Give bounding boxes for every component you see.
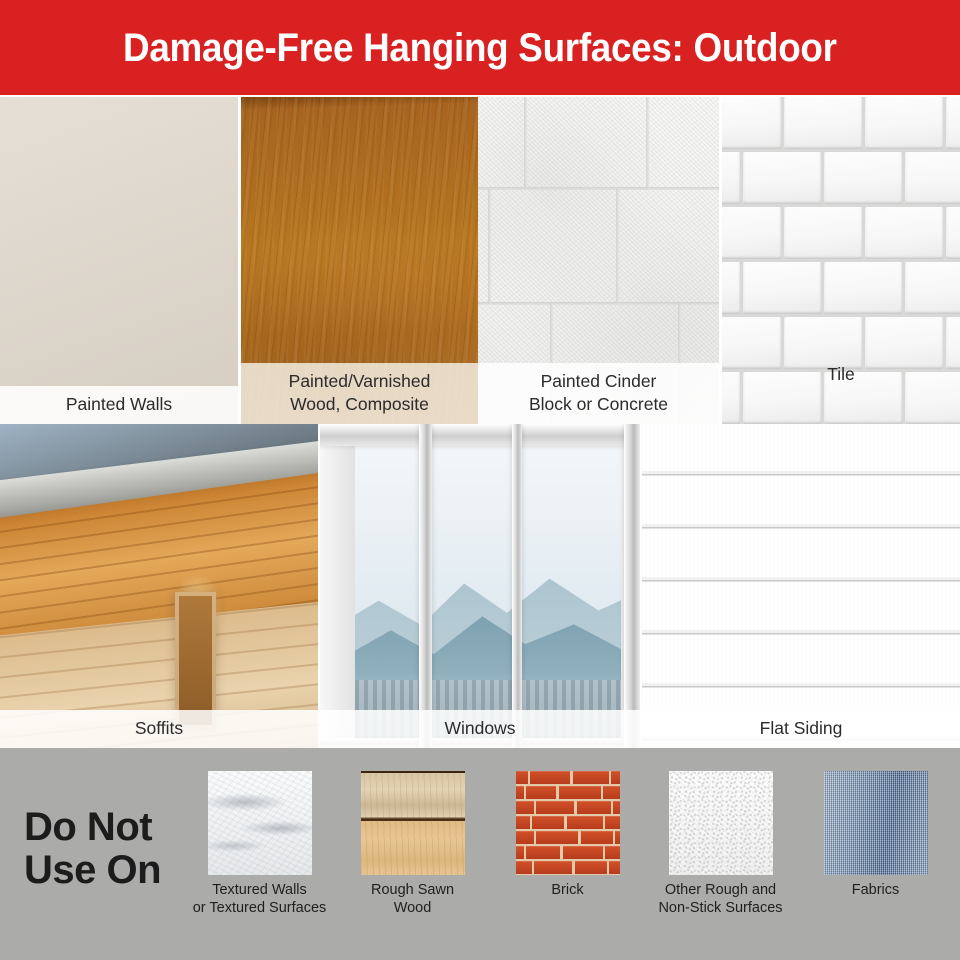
surface-tile-varnished-wood[interactable]: Painted/Varnished Wood, Composite [241, 97, 478, 424]
do-not-use-item-brick[interactable]: Brick [495, 771, 640, 899]
surface-label-soffits: Soffits [0, 710, 318, 748]
do-not-use-caption-textured-walls: Textured Walls or Textured Surfaces [187, 881, 332, 917]
soffit-photo-icon [0, 424, 318, 748]
do-not-use-item-rough-nonstick[interactable]: Other Rough and Non-Stick Surfaces [648, 771, 793, 917]
surface-tile-tile[interactable]: Tile [722, 97, 960, 424]
do-not-use-section: Do Not Use On Textured Walls or Textured… [0, 748, 960, 960]
surface-label-line1: Painted Cinder [480, 370, 717, 392]
surface-label-line2: Block or Concrete [480, 393, 717, 415]
flat-siding-photo-icon [642, 424, 960, 748]
infographic-root: Damage-Free Hanging Surfaces: Outdoor Pa… [0, 0, 960, 960]
surface-label-cinder-block: Painted Cinder Block or Concrete [478, 363, 719, 424]
caption-line1: Brick [495, 881, 640, 899]
caption-line2: Non-Stick Surfaces [648, 899, 793, 917]
caption-line1: Fabrics [803, 881, 948, 899]
do-not-use-caption-rough-nonstick: Other Rough and Non-Stick Surfaces [648, 881, 793, 917]
surface-label-tile: Tile [722, 356, 960, 394]
caption-line2: or Textured Surfaces [187, 899, 332, 917]
caption-line1: Textured Walls [187, 881, 332, 899]
do-not-use-item-textured-walls[interactable]: Textured Walls or Textured Surfaces [187, 771, 332, 917]
brick-thumb-icon [516, 771, 620, 875]
do-not-use-caption-rough-sawn-wood: Rough Sawn Wood [340, 881, 485, 917]
surface-label-line2: Wood, Composite [243, 393, 476, 415]
surface-label-varnished-wood: Painted/Varnished Wood, Composite [241, 363, 478, 424]
surface-tile-cinder-block[interactable]: Painted Cinder Block or Concrete [478, 97, 719, 424]
do-not-use-heading-line1: Do Not [24, 806, 161, 849]
do-not-use-item-rough-sawn-wood[interactable]: Rough Sawn Wood [340, 771, 485, 917]
header-banner: Damage-Free Hanging Surfaces: Outdoor [0, 0, 960, 95]
rough-nonstick-thumb-icon [669, 771, 773, 875]
painted-wall-swatch-icon [0, 97, 238, 424]
surface-label-line1: Painted/Varnished [243, 370, 476, 392]
rough-sawn-wood-thumb-icon [361, 771, 465, 875]
surface-tile-windows[interactable]: Windows [320, 424, 640, 748]
page-title: Damage-Free Hanging Surfaces: Outdoor [123, 28, 837, 68]
caption-line2: Wood [340, 899, 485, 917]
textured-wall-thumb-icon [208, 771, 312, 875]
fabric-thumb-icon [824, 771, 928, 875]
do-not-use-caption-fabrics: Fabrics [803, 881, 948, 899]
surface-tile-painted-walls[interactable]: Painted Walls [0, 97, 238, 424]
window-photo-icon [320, 424, 640, 748]
surface-label-flat-siding: Flat Siding [642, 710, 960, 748]
surface-tile-flat-siding[interactable]: Flat Siding [642, 424, 960, 748]
surface-label-painted-walls: Painted Walls [0, 386, 238, 424]
surface-label-windows: Windows [320, 710, 640, 748]
do-not-use-heading: Do Not Use On [24, 806, 161, 892]
caption-line1: Other Rough and [648, 881, 793, 899]
do-not-use-item-fabrics[interactable]: Fabrics [803, 771, 948, 899]
do-not-use-heading-line2: Use On [24, 849, 161, 892]
surface-tile-soffits[interactable]: Soffits [0, 424, 318, 748]
caption-line1: Rough Sawn [340, 881, 485, 899]
do-not-use-caption-brick: Brick [495, 881, 640, 899]
